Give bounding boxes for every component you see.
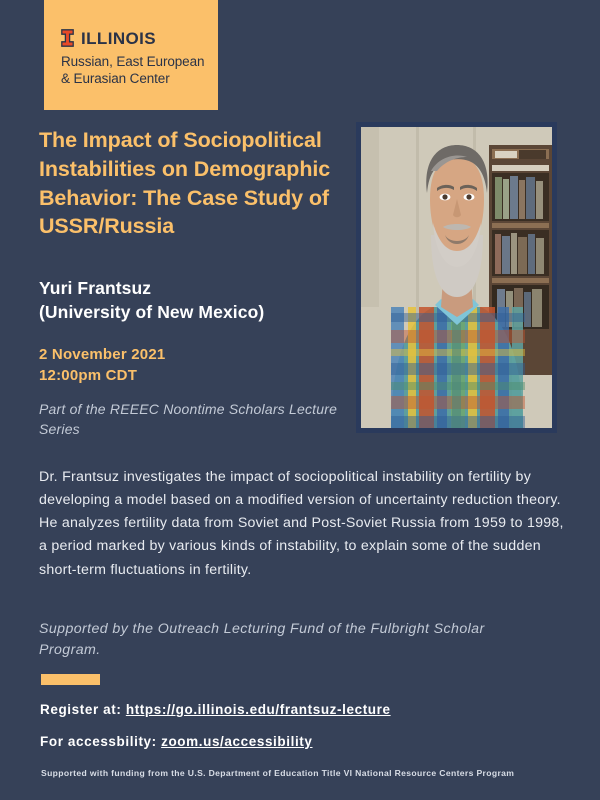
support-note: Supported by the Outreach Lecturing Fund… bbox=[39, 619, 539, 662]
speaker-name: Yuri Frantsuz bbox=[39, 277, 359, 301]
logo-wordmark-row: ILLINOIS bbox=[61, 28, 218, 48]
accessibility-link[interactable]: zoom.us/accessibility bbox=[161, 734, 312, 749]
speaker-portrait-frame bbox=[356, 122, 557, 433]
event-date: 2 November 2021 bbox=[39, 345, 359, 366]
speaker-block: Yuri Frantsuz (University of New Mexico) bbox=[39, 277, 359, 325]
funding-footer: Supported with funding from the U.S. Dep… bbox=[41, 768, 571, 778]
unit-name: Russian, East European & Eurasian Center bbox=[61, 53, 218, 88]
register-link[interactable]: https://go.illinois.edu/frantsuz-lecture bbox=[126, 702, 391, 717]
event-datetime: 2 November 2021 12:00pm CDT bbox=[39, 345, 359, 386]
event-time: 12:00pm CDT bbox=[39, 366, 359, 387]
page-title: The Impact of Sociopolitical Instabiliti… bbox=[39, 126, 349, 241]
speaker-portrait bbox=[361, 127, 552, 428]
accessibility-label: For accessbility: bbox=[40, 734, 157, 749]
event-abstract: Dr. Frantsuz investigates the impact of … bbox=[39, 466, 564, 582]
speaker-affiliation: (University of New Mexico) bbox=[39, 301, 359, 325]
illinois-block-i-icon bbox=[61, 29, 74, 47]
register-label: Register at: bbox=[40, 702, 121, 717]
register-line: Register at: https://go.illinois.edu/fra… bbox=[40, 702, 391, 717]
lecture-series-note: Part of the REEEC Noontime Scholars Lect… bbox=[39, 400, 349, 440]
accent-divider bbox=[41, 674, 100, 685]
illinois-logo-block: ILLINOIS Russian, East European & Eurasi… bbox=[44, 0, 218, 110]
accessibility-line: For accessbility: zoom.us/accessibility bbox=[40, 734, 313, 749]
illinois-wordmark: ILLINOIS bbox=[81, 30, 156, 47]
unit-name-line-2: & Eurasian Center bbox=[61, 70, 218, 87]
unit-name-line-1: Russian, East European bbox=[61, 53, 218, 70]
